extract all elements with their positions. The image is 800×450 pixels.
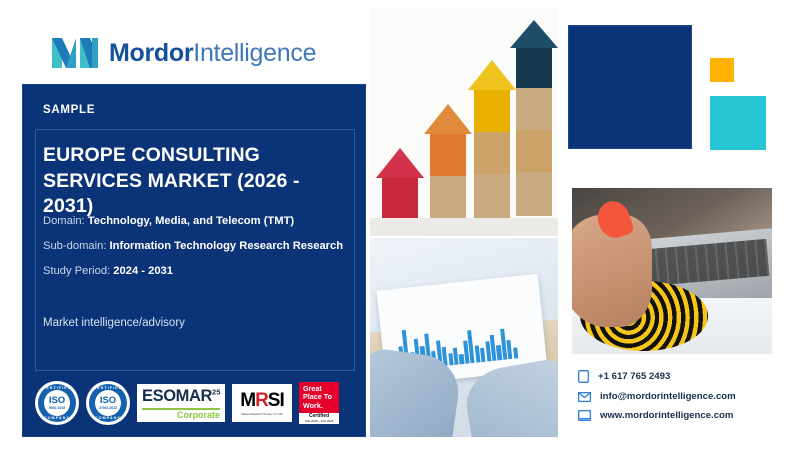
mrsi-left: M: [240, 390, 255, 411]
iso-seal-2-number: 27001:2013: [99, 406, 117, 410]
mordor-m-logo-icon: [52, 36, 98, 70]
iso-seal-2-main: ISO: [100, 396, 116, 406]
mrsi-sub: Market Research Society of India: [241, 413, 282, 416]
contact-info: +1 617 765 2493 info@mordorintelligence.…: [578, 370, 793, 429]
page-title: EUROPE CONSULTING SERVICES MARKET (2026 …: [43, 143, 335, 220]
iso-seal-2-arc-bottom: COMPANY: [86, 416, 130, 420]
mrsi-r: R: [255, 390, 268, 411]
phone-icon: [578, 370, 589, 383]
advisory-tagline: Market intelligence/advisory: [43, 317, 185, 329]
iso-seal-1-number: 9001:1015: [49, 406, 65, 410]
wooden-blocks-illustration: [370, 8, 558, 236]
meta-row-study-period: Study Period: 2024 - 2031: [43, 266, 343, 277]
meta-label-domain: Domain:: [43, 215, 85, 227]
sample-badge: SAMPLE: [43, 104, 95, 116]
monitor-icon: [578, 410, 591, 421]
meta-label-subdomain: Sub-domain:: [43, 240, 106, 252]
contact-phone-text: +1 617 765 2493: [598, 371, 670, 382]
report-cover-page: MordorIntelligence SAMPLE EUROPE CONSULT…: [0, 0, 800, 450]
meta-value-study-period: 2024 - 2031: [113, 265, 173, 277]
certification-badges: CERTIFIED COMPANY ISO 9001:1015 CERTIFIE…: [35, 380, 355, 426]
decorative-cyan-square: [710, 96, 766, 150]
decorative-amber-square: [710, 58, 734, 82]
meta-label-study-period: Study Period:: [43, 265, 110, 277]
meta-value-domain: Technology, Media, and Telecom (TMT): [88, 215, 294, 227]
gptw-lines: Great Place To Work.: [299, 382, 339, 413]
meta-value-subdomain: Information Technology Research Research: [110, 240, 344, 252]
brand-name-light: Intelligence: [193, 39, 316, 67]
report-info-panel: SAMPLE EUROPE CONSULTING SERVICES MARKET…: [22, 84, 366, 437]
contact-row-phone[interactable]: +1 617 765 2493: [578, 370, 793, 383]
iso-certified-seal-icon: CERTIFIED COMPANY ISO 27001:2013: [86, 381, 130, 425]
meta-row-subdomain: Sub-domain: Information Technology Resea…: [43, 241, 343, 252]
esomar-badge-icon: ESOMAR25 Corporate: [137, 384, 225, 422]
mrsi-right: SI: [268, 390, 284, 411]
wooden-block-bar-chart-photo: [370, 8, 558, 236]
brand-name-bold: Mordor: [109, 39, 193, 67]
esomar-main: ESOMAR: [142, 387, 212, 405]
meta-row-domain: Domain: Technology, Media, and Telecom (…: [43, 216, 343, 227]
report-metadata: Domain: Technology, Media, and Telecom (…: [43, 216, 343, 292]
great-place-to-work-badge-icon: Great Place To Work. Certified JAN 2025 …: [299, 382, 339, 424]
business-financial-chart-photo: [370, 238, 558, 437]
contact-row-website[interactable]: www.mordorintelligence.com: [578, 410, 793, 421]
decorative-navy-square: [568, 25, 692, 149]
gptw-cert-sub: JAN 2025 - JAN 2026: [299, 420, 339, 423]
envelope-icon: [578, 392, 591, 402]
contact-email-text: info@mordorintelligence.com: [600, 391, 736, 402]
iso-seal-1-arc-bottom: COMPANY: [35, 416, 79, 420]
esomar-sub: Corporate: [142, 411, 220, 420]
iso-seal-1-main: ISO: [49, 396, 65, 406]
iso-certified-company-seal-icon: CERTIFIED COMPANY ISO 9001:1015: [35, 381, 79, 425]
brand-name: MordorIntelligence: [109, 41, 316, 66]
contact-website-text: www.mordorintelligence.com: [600, 410, 733, 421]
mrsi-badge-icon: MRSI Market Research Society of India: [232, 384, 292, 422]
esomar-superscript: 25: [212, 388, 220, 397]
contact-row-email[interactable]: info@mordorintelligence.com: [578, 391, 793, 402]
brand-logo[interactable]: MordorIntelligence: [52, 36, 316, 70]
dart-target-laptop-photo: [572, 188, 772, 354]
